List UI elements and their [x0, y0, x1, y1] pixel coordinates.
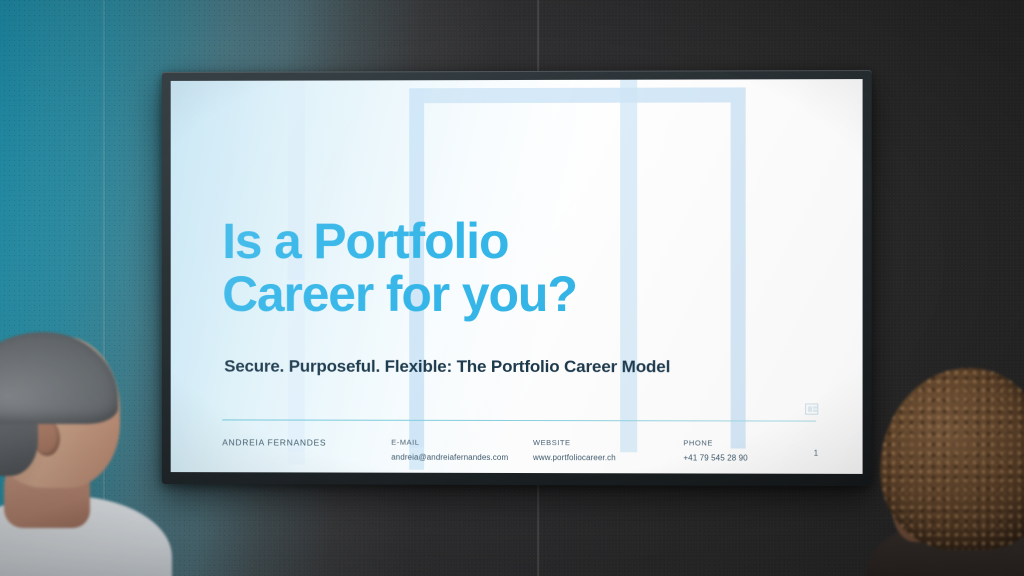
- footer-presenter-name: ANDREIA FERNANDES: [222, 437, 326, 447]
- footer-phone-value: +41 79 545 28 90: [683, 453, 747, 462]
- footer-email-value[interactable]: andreia@andreiafernandes.com: [391, 453, 508, 462]
- person-right-hair: [880, 368, 1024, 550]
- slide-title: Is a Portfolio Career for you?: [222, 215, 782, 321]
- wall-mounted-display[interactable]: Is a Portfolio Career for you? Secure. P…: [162, 70, 872, 486]
- footer-website-column: WEBSITE www.portfoliocareer.ch: [533, 438, 616, 462]
- footer-email-label: E-MAIL: [391, 438, 508, 447]
- person-right-viewer: [866, 376, 1024, 576]
- footer-website-value[interactable]: www.portfoliocareer.ch: [533, 453, 616, 462]
- footer-email-column: E-MAIL andreia@andreiafernandes.com: [391, 438, 508, 462]
- footer-presenter: ANDREIA FERNANDES: [222, 437, 326, 447]
- footer-website-label: WEBSITE: [533, 438, 616, 447]
- slide-title-line-1: Is a Portfolio: [222, 215, 782, 268]
- footer-phone-column: PHONE +41 79 545 28 90: [683, 438, 747, 462]
- slide-footer: ANDREIA FERNANDES E-MAIL andreia@andreia…: [222, 437, 842, 474]
- person-left-hair: [0, 332, 118, 424]
- person-left-viewer: [0, 326, 182, 576]
- presentation-slide[interactable]: Is a Portfolio Career for you? Secure. P…: [171, 79, 863, 474]
- slide-title-line-2: Career for you?: [222, 268, 782, 321]
- display-screen[interactable]: Is a Portfolio Career for you? Secure. P…: [171, 79, 863, 474]
- meeting-room-scene: Is a Portfolio Career for you? Secure. P…: [0, 0, 1024, 576]
- footer-phone-label: PHONE: [683, 438, 747, 447]
- slide-logo-icon: [805, 403, 820, 416]
- person-right-hair-curls: [880, 368, 1024, 550]
- slide-page-number: 1: [814, 449, 818, 458]
- slide-subtitle: Secure. Purposeful. Flexible: The Portfo…: [224, 357, 670, 378]
